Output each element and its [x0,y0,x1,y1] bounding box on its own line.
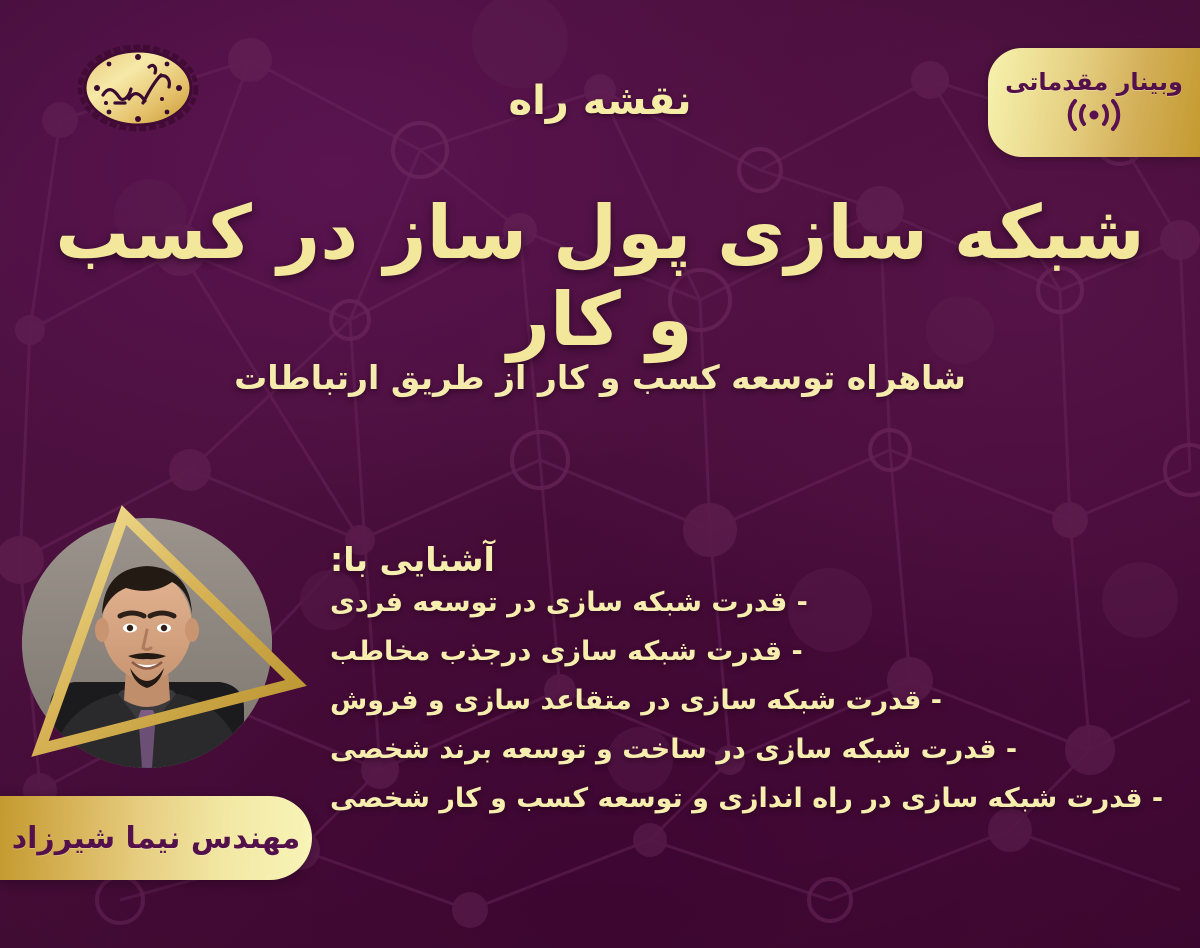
features-title: آشنایی با: [330,540,1172,579]
poster-subtitle: شاهراه توسعه کسب و کار از طریق ارتباطات [0,358,1200,397]
speaker-name: مهندس نیما شیرزاد [12,821,301,856]
speaker-portrait [22,518,272,768]
poster-kicker: نقشه راه [0,78,1200,124]
list-item: - قدرت شبکه سازی در توسعه فردی [330,589,1172,616]
list-item: - قدرت شبکه سازی درجذب مخاطب [330,638,1172,665]
webinar-poster: وبینار مقدماتی نقشه راه شبکه سازی پول سا… [0,0,1200,948]
features-list: آشنایی با: - قدرت شبکه سازی در توسعه فرد… [330,540,1172,834]
avatar [22,518,272,768]
list-item: - قدرت شبکه سازی در راه اندازی و توسعه ک… [330,785,1172,812]
speaker-name-badge[interactable]: مهندس نیما شیرزاد [0,796,312,880]
list-item: - قدرت شبکه سازی در ساخت و توسعه برند شخ… [330,736,1172,763]
list-item: - قدرت شبکه سازی در متقاعد سازی و فروش [330,687,1172,714]
page-title: شبکه سازی پول ساز در کسب و کار [0,190,1200,365]
